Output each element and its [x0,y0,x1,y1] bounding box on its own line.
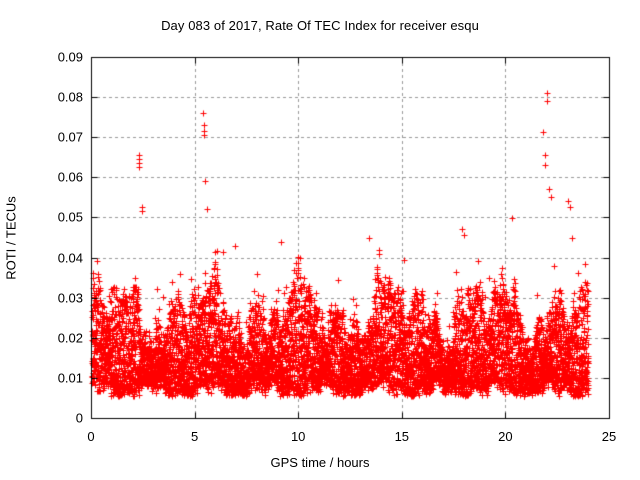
y-tick-label: 0.09 [0,50,83,65]
roti-scatter-plot: Day 083 of 2017, Rate Of TEC Index for r… [0,0,640,480]
x-tick-label: 0 [87,429,94,444]
y-tick-label: 0.01 [0,370,83,385]
y-tick-label: 0.08 [0,90,83,105]
y-axis-label: ROTI / TECUs [4,196,19,280]
x-axis-label: GPS time / hours [0,455,640,470]
y-tick-label: 0.06 [0,170,83,185]
x-tick-label: 25 [602,429,616,444]
y-tick-label: 0.07 [0,130,83,145]
y-tick-label: 0.03 [0,290,83,305]
x-tick-label: 15 [395,429,409,444]
plot-canvas [0,0,640,480]
x-tick-label: 5 [191,429,198,444]
y-tick-label: 0 [0,411,83,426]
y-tick-label: 0.02 [0,330,83,345]
x-tick-label: 10 [291,429,305,444]
x-tick-label: 20 [498,429,512,444]
